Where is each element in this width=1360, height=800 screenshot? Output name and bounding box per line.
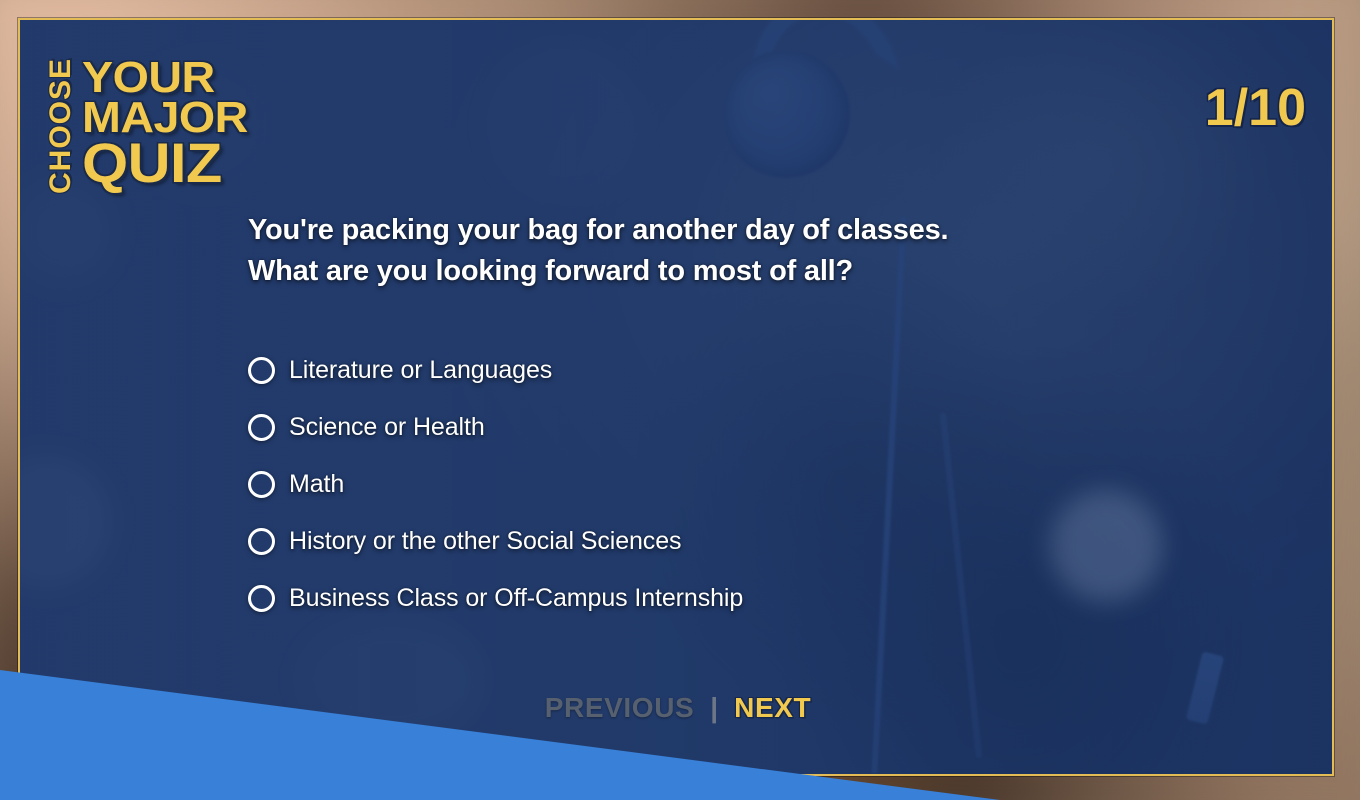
answer-option-label: Business Class or Off-Campus Internship — [289, 584, 743, 613]
radio-button-icon[interactable] — [248, 528, 275, 555]
quiz-frame: CHOOSE YOUR MAJOR QUIZ 1/10 You're packi… — [18, 18, 1334, 776]
logo-word-quiz: QUIZ — [82, 137, 248, 189]
radio-button-icon[interactable] — [248, 414, 275, 441]
answer-option-1[interactable]: Literature or Languages — [248, 342, 1108, 399]
answer-option-label: Math — [289, 470, 344, 499]
question-text: You're packing your bag for another day … — [248, 210, 1128, 292]
radio-button-icon[interactable] — [248, 471, 275, 498]
answer-option-5[interactable]: Business Class or Off-Campus Internship — [248, 570, 1108, 627]
logo-word-stack: YOUR MAJOR QUIZ — [82, 58, 238, 198]
radio-button-icon[interactable] — [248, 357, 275, 384]
radio-button-icon[interactable] — [248, 585, 275, 612]
quiz-page: CHOOSE YOUR MAJOR QUIZ 1/10 You're packi… — [0, 0, 1360, 800]
nav-separator: | — [710, 692, 718, 724]
answer-option-label: Literature or Languages — [289, 356, 552, 385]
previous-button[interactable]: PREVIOUS — [545, 692, 695, 724]
answer-options-list: Literature or Languages Science or Healt… — [248, 342, 1108, 627]
quiz-content: CHOOSE YOUR MAJOR QUIZ 1/10 You're packi… — [20, 20, 1332, 774]
next-button[interactable]: NEXT — [734, 692, 811, 724]
logo-word-choose: CHOOSE — [46, 58, 76, 198]
answer-option-2[interactable]: Science or Health — [248, 399, 1108, 456]
question-line-1: You're packing your bag for another day … — [248, 210, 1128, 251]
quiz-logo: CHOOSE YOUR MAJOR QUIZ — [46, 58, 246, 198]
answer-option-3[interactable]: Math — [248, 456, 1108, 513]
answer-option-label: History or the other Social Sciences — [289, 527, 681, 556]
question-counter: 1/10 — [1205, 78, 1306, 138]
answer-option-4[interactable]: History or the other Social Sciences — [248, 513, 1108, 570]
logo-word-your: YOUR — [82, 58, 248, 98]
question-line-2: What are you looking forward to most of … — [248, 251, 1128, 292]
answer-option-label: Science or Health — [289, 413, 485, 442]
